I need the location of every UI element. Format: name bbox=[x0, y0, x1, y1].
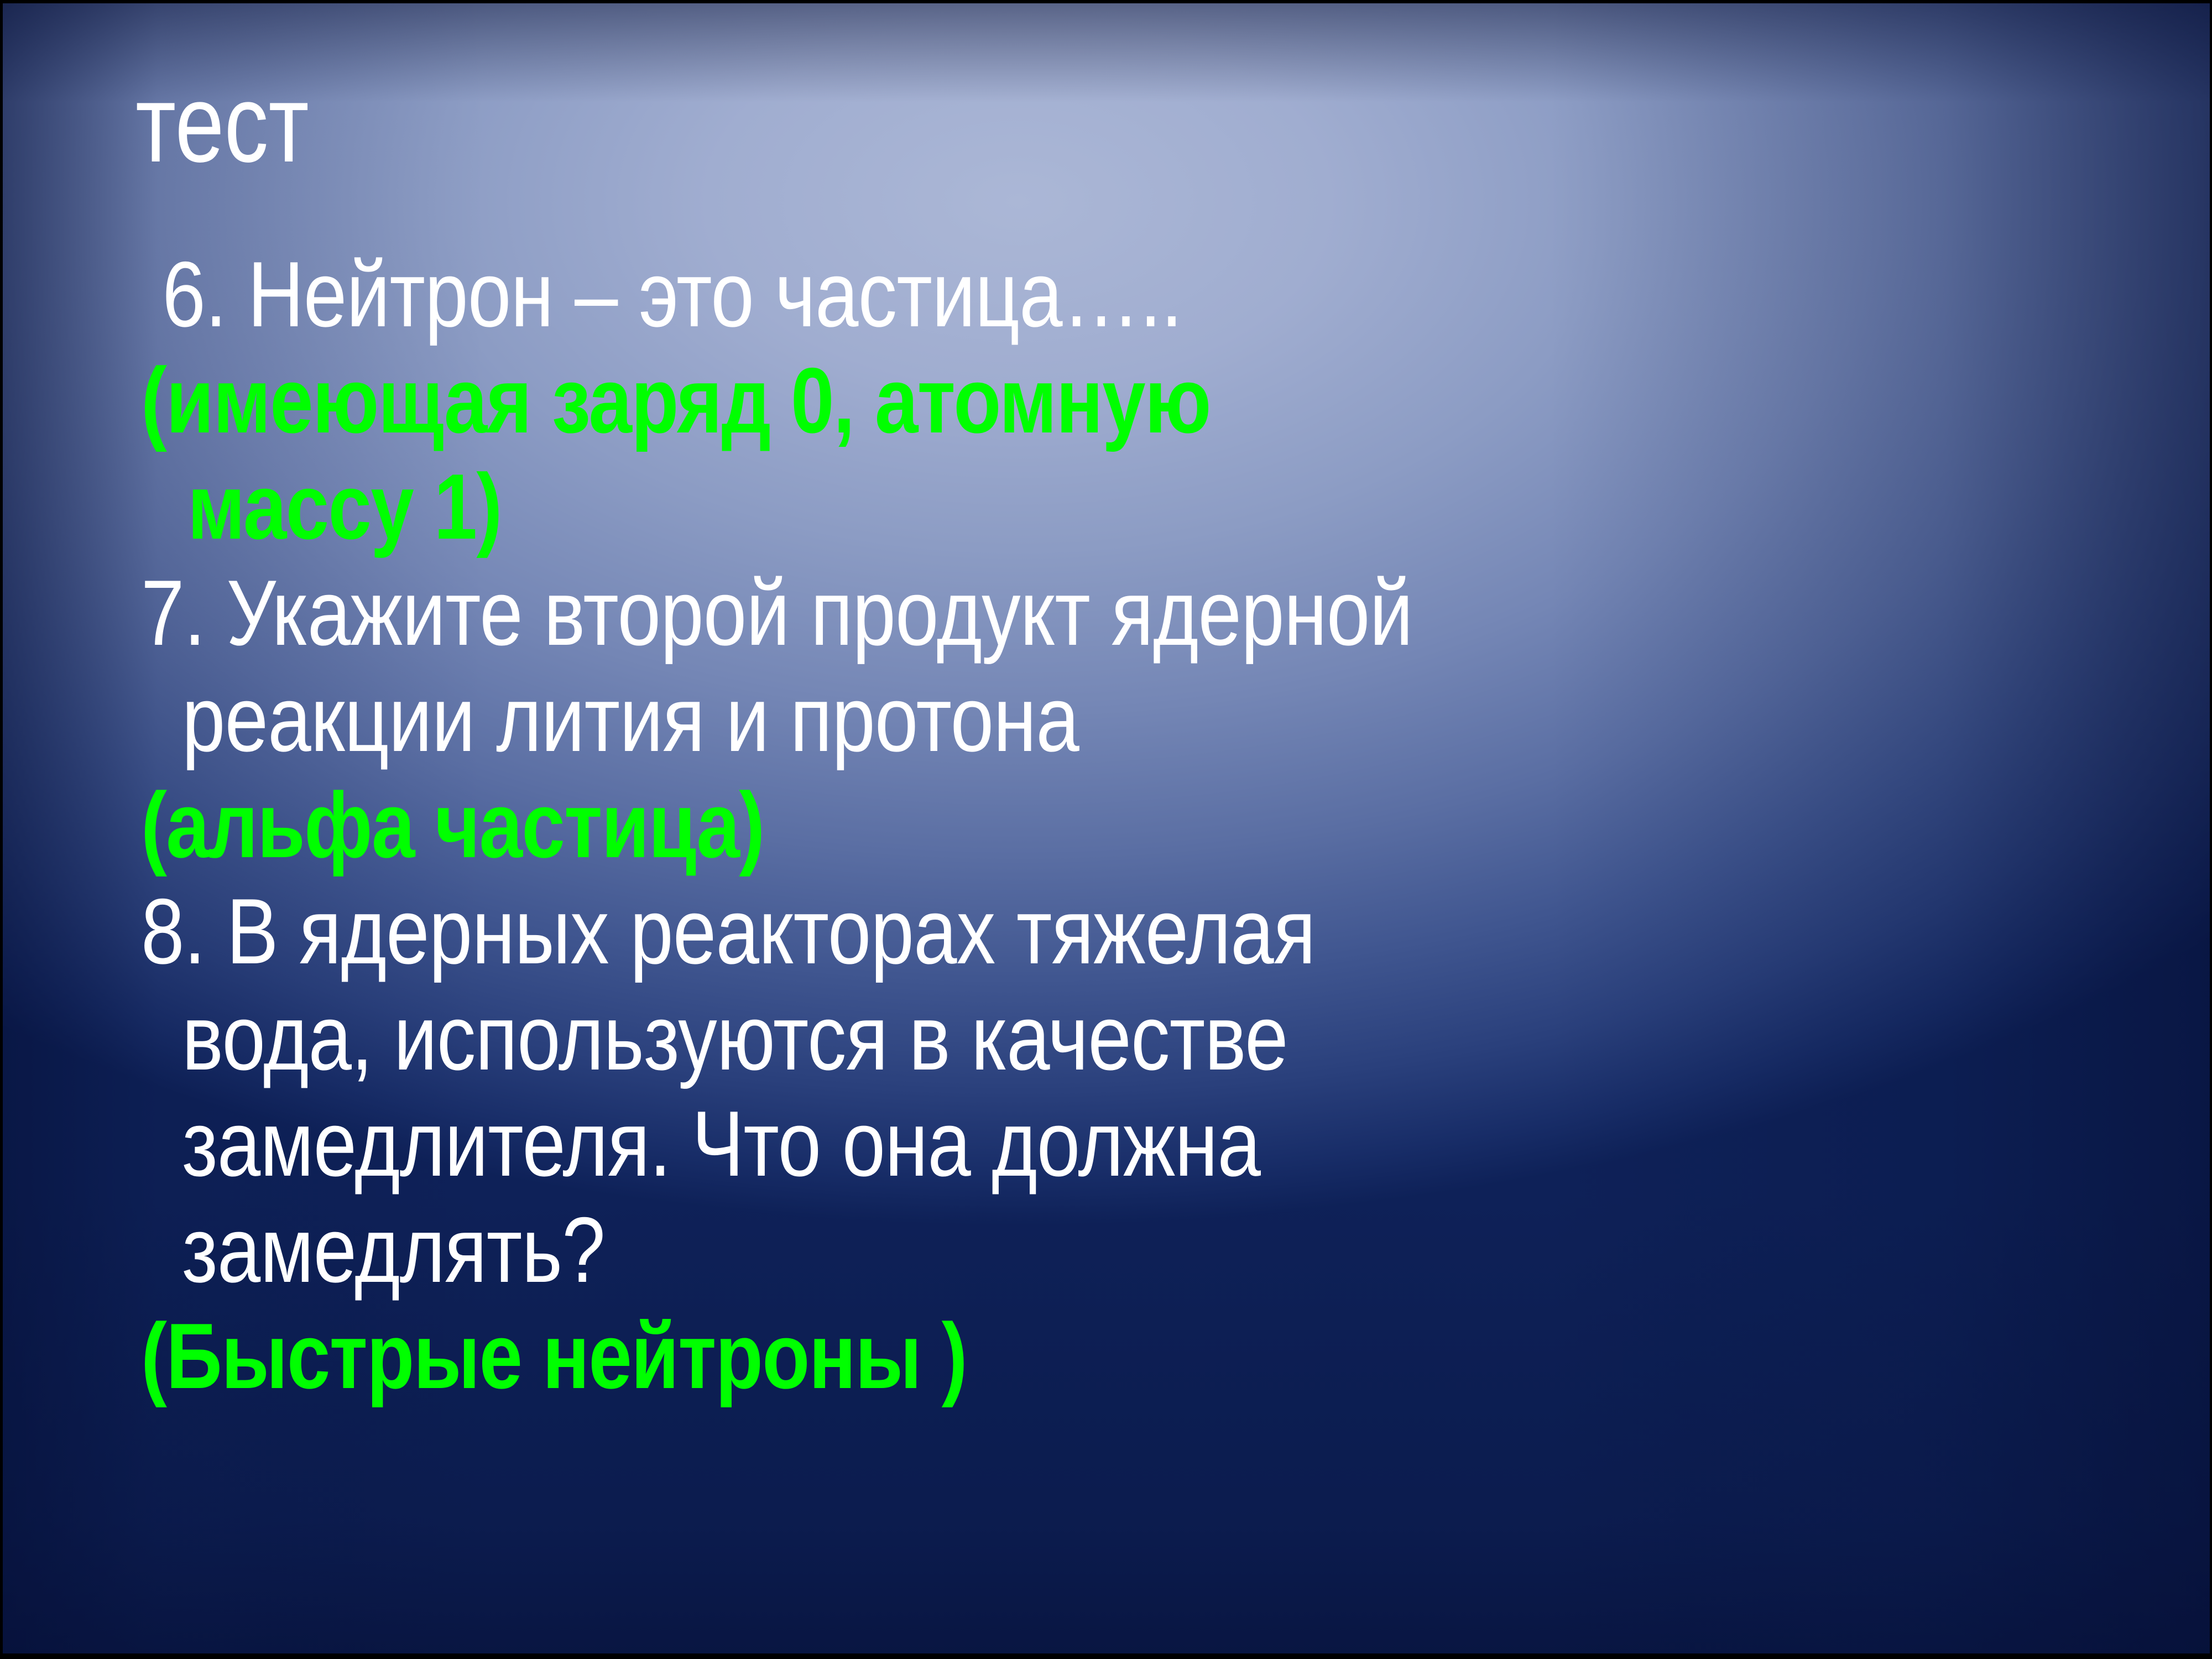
question-6-prompt-line-1: 6. Нейтрон – это частица….. bbox=[141, 241, 2212, 347]
question-8-prompt-line-4: замедлять? bbox=[141, 1197, 2212, 1303]
slide-content: тест 6. Нейтрон – это частица….. (имеюща… bbox=[3, 3, 2210, 1653]
question-8-answer-line-1: (Быстрые нейтроны ) bbox=[141, 1303, 2212, 1409]
presentation-slide: тест 6. Нейтрон – это частица….. (имеюща… bbox=[0, 0, 2212, 1659]
question-8-prompt-line-1: 8. В ядерных реакторах тяжелая bbox=[141, 878, 2212, 984]
question-7-prompt-line-2: реакции лития и протона bbox=[141, 666, 2212, 772]
question-6-answer-line-2: массу 1) bbox=[141, 453, 2212, 560]
question-8-prompt-line-2: вода, используются в качестве bbox=[141, 984, 2212, 1091]
question-7-answer-line-1: (альфа частица) bbox=[141, 772, 2212, 878]
question-6-answer-line-1: (имеющая заряд 0, атомную bbox=[141, 347, 2212, 453]
question-8-prompt-line-3: замедлителя. Что она должна bbox=[141, 1091, 2212, 1197]
slide-body-text: 6. Нейтрон – это частица….. (имеющая зар… bbox=[141, 241, 2212, 1409]
slide-title: тест bbox=[135, 69, 309, 179]
question-7-prompt-line-1: 7. Укажите второй продукт ядерной bbox=[141, 560, 2212, 666]
